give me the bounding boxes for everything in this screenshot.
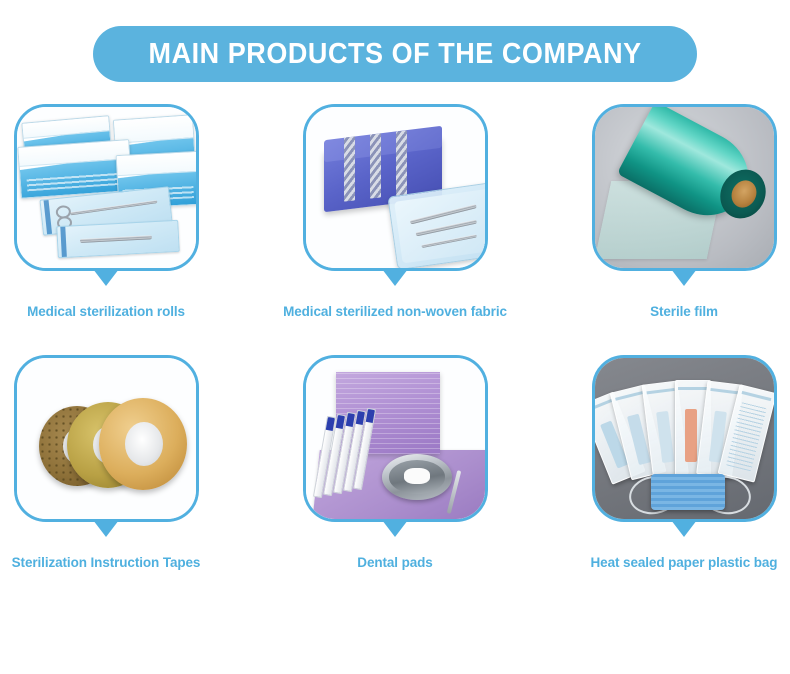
card-tail-1 [93,269,119,286]
product-grid: Medical sterilization rolls Medical ster… [0,104,790,580]
dental-pads-photo [306,358,485,519]
product-card-sterile-film[interactable] [592,104,777,271]
card-tail-3 [671,269,697,286]
product-cell-4: Sterilization Instruction Tapes [14,355,199,580]
card-tail-6 [671,520,697,537]
non-woven-sterilization-wrap-photo [306,107,485,268]
product-card-non-woven-fabric[interactable] [303,104,488,271]
heat-sealed-pouches-photo [595,358,774,519]
product-cell-2: Medical sterilized non-woven fabric [303,104,488,329]
header-banner: MAIN PRODUCTS OF THE COMPANY [93,26,697,82]
product-caption-6: Heat sealed paper plastic bag [591,555,778,570]
card-tail-4 [93,520,119,537]
autoclave-indicator-tape-rolls-photo [17,358,196,519]
product-cell-6: Heat sealed paper plastic bag [592,355,777,580]
product-caption-3: Sterile film [650,304,718,319]
product-card-medical-sterilization-rolls[interactable] [14,104,199,271]
product-caption-5: Dental pads [357,555,432,570]
product-card-instruction-tapes[interactable] [14,355,199,522]
product-cell-1: Medical sterilization rolls [14,104,199,329]
product-card-heat-sealed-bag[interactable] [592,355,777,522]
page-title: MAIN PRODUCTS OF THE COMPANY [148,38,641,71]
sterile-film-roll-photo [595,107,774,268]
product-caption-4: Sterilization Instruction Tapes [12,555,201,570]
product-caption-1: Medical sterilization rolls [27,304,185,319]
product-cell-3: Sterile film [592,104,777,329]
page-header: MAIN PRODUCTS OF THE COMPANY [0,0,790,82]
sterilization-pouch-boxes-photo [17,107,196,268]
product-cell-5: Dental pads [303,355,488,580]
card-tail-2 [382,269,408,286]
product-caption-2: Medical sterilized non-woven fabric [283,304,507,319]
product-card-dental-pads[interactable] [303,355,488,522]
card-tail-5 [382,520,408,537]
